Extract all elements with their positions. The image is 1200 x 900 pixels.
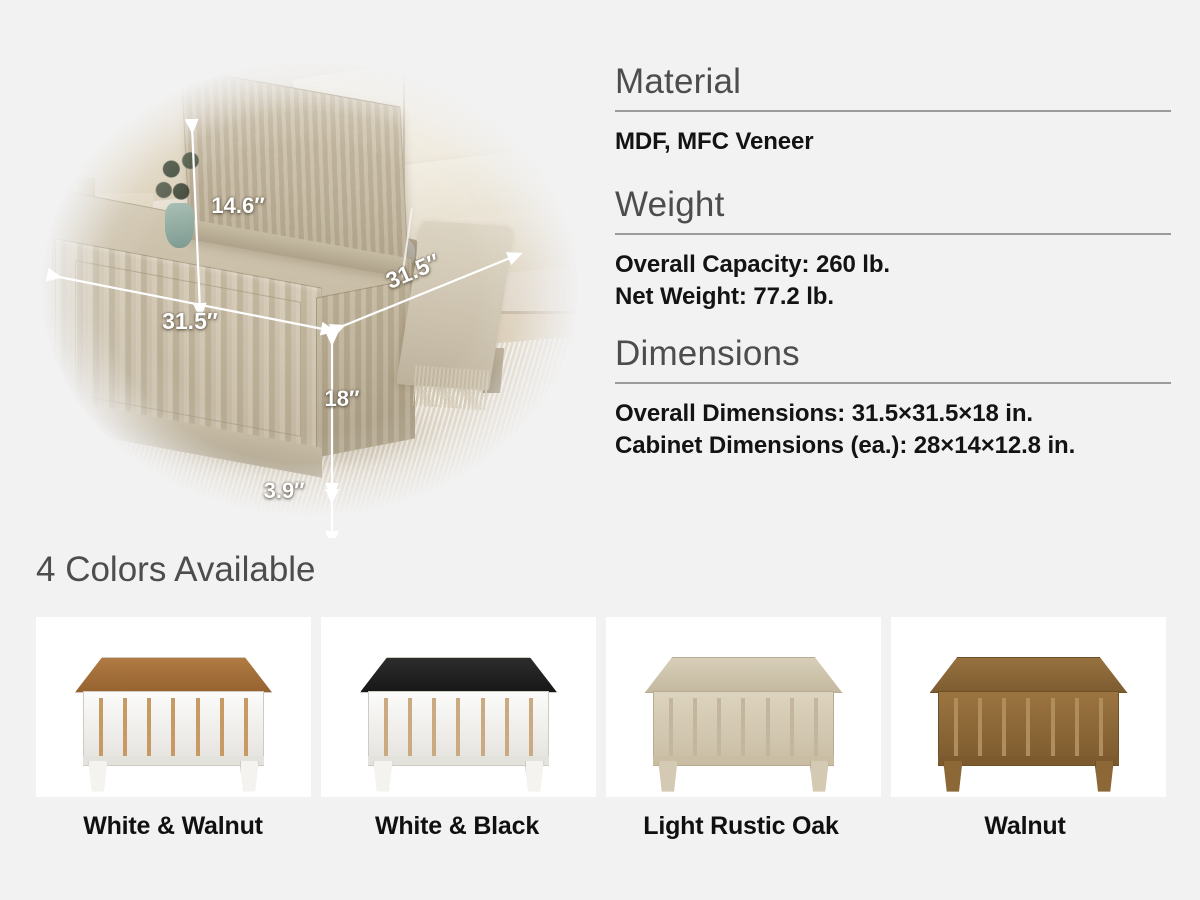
chest-top: [360, 657, 558, 693]
chest-slat: [147, 698, 151, 757]
chest-thumbnail-light-rustic-oak: [606, 617, 881, 797]
product-detail-page: 14.6″ 31.5″ 31.5″ 18″ 3.9″ Material MDF,…: [0, 0, 1200, 900]
chest-base: [368, 756, 550, 765]
chest-slat-panel: [99, 698, 248, 757]
color-swatch-row: [36, 617, 1166, 797]
spec-heading-dimensions: Dimensions: [615, 334, 1171, 373]
chest-slat: [384, 698, 388, 757]
chest-slat: [529, 698, 533, 757]
chest-base: [653, 756, 835, 765]
chest-top: [645, 657, 843, 693]
chest-slat: [693, 698, 697, 757]
chest-slat: [1099, 698, 1103, 757]
spec-section-dimensions: Dimensions Overall Dimensions: 31.5×31.5…: [615, 334, 1171, 463]
flower-vase: [165, 203, 194, 248]
chest-slat: [99, 698, 103, 757]
chest-slat: [456, 698, 460, 757]
color-swatch-label-walnut: Walnut: [888, 812, 1162, 841]
chest-leg-right: [525, 761, 544, 792]
color-swatch-card-white-black[interactable]: [321, 617, 596, 797]
chest-slat: [220, 698, 224, 757]
chest-slat: [408, 698, 412, 757]
chest-slat: [790, 698, 794, 757]
color-swatch-card-white-walnut[interactable]: [36, 617, 311, 797]
spec-value-overall-dimensions: Overall Dimensions: 31.5×31.5×18 in.: [615, 398, 1171, 430]
chest-slat: [123, 698, 127, 757]
hero-image-panel: 14.6″ 31.5″ 31.5″ 18″ 3.9″: [20, 38, 600, 538]
chest-top: [930, 657, 1128, 693]
colors-available-title: 4 Colors Available: [36, 550, 316, 590]
chest-slat: [669, 698, 673, 757]
color-swatch-label-white-walnut: White & Walnut: [36, 812, 310, 841]
spec-divider: [615, 110, 1171, 112]
chest-base: [938, 756, 1120, 765]
spec-heading-material: Material: [615, 62, 1171, 101]
chest-slat-panel: [669, 698, 818, 757]
chest-slat: [1051, 698, 1055, 757]
chest-slat: [505, 698, 509, 757]
spec-section-weight: Weight Overall Capacity: 260 lb. Net Wei…: [615, 185, 1171, 314]
throw-blanket-fringe: [413, 365, 491, 410]
spec-divider: [615, 382, 1171, 384]
spec-section-material: Material MDF, MFC Veneer: [615, 62, 1171, 159]
chest-leg-left: [943, 761, 962, 792]
room-scene: [20, 38, 600, 538]
chest-slat: [1026, 698, 1030, 757]
chest-slat: [717, 698, 721, 757]
chest-thumbnail-walnut: [891, 617, 1166, 797]
color-swatch-card-walnut[interactable]: [891, 617, 1166, 797]
specifications-column: Material MDF, MFC Veneer Weight Overall …: [615, 62, 1171, 463]
spec-value-net-weight: Net Weight: 77.2 lb.: [615, 281, 1171, 313]
spec-heading-weight: Weight: [615, 185, 1171, 224]
chest-slat: [244, 698, 248, 757]
chest-slat-panel: [384, 698, 533, 757]
chest-base: [83, 756, 265, 765]
chest-thumbnail-white-black: [321, 617, 596, 797]
chest-leg-left: [69, 441, 98, 486]
chest-slat: [978, 698, 982, 757]
chest-leg-left: [373, 761, 392, 792]
chest-slat: [432, 698, 436, 757]
chest-slat: [814, 698, 818, 757]
spec-value-overall-capacity: Overall Capacity: 260 lb.: [615, 249, 1171, 281]
color-swatch-label-white-black: White & Black: [320, 812, 594, 841]
chest-slat: [954, 698, 958, 757]
chest-slat: [766, 698, 770, 757]
chest-slat: [1002, 698, 1006, 757]
chest-top: [75, 657, 273, 693]
color-swatch-card-light-rustic-oak[interactable]: [606, 617, 881, 797]
chest-slat: [741, 698, 745, 757]
chest-slat: [1075, 698, 1079, 757]
spacer: [615, 314, 1171, 334]
chest-slat: [196, 698, 200, 757]
chest-leg-right: [1095, 761, 1114, 792]
chest-leg-left: [88, 761, 107, 792]
chest-slat-panel: [954, 698, 1103, 757]
spec-value-cabinet-dimensions: Cabinet Dimensions (ea.): 28×14×12.8 in.: [615, 430, 1171, 462]
chest-leg-right: [810, 761, 829, 792]
chest-leg-right: [240, 761, 259, 792]
flower-foliage: [151, 141, 209, 211]
spec-divider: [615, 233, 1171, 235]
hero-image-torn-edge-mask: [20, 38, 600, 538]
chest-leg-left: [658, 761, 677, 792]
chest-slat: [481, 698, 485, 757]
spec-value-material: MDF, MFC Veneer: [615, 126, 1171, 158]
chest-slat: [171, 698, 175, 757]
chest-thumbnail-white-walnut: [36, 617, 311, 797]
color-swatch-label-light-rustic-oak: Light Rustic Oak: [604, 812, 878, 841]
spacer: [615, 159, 1171, 185]
